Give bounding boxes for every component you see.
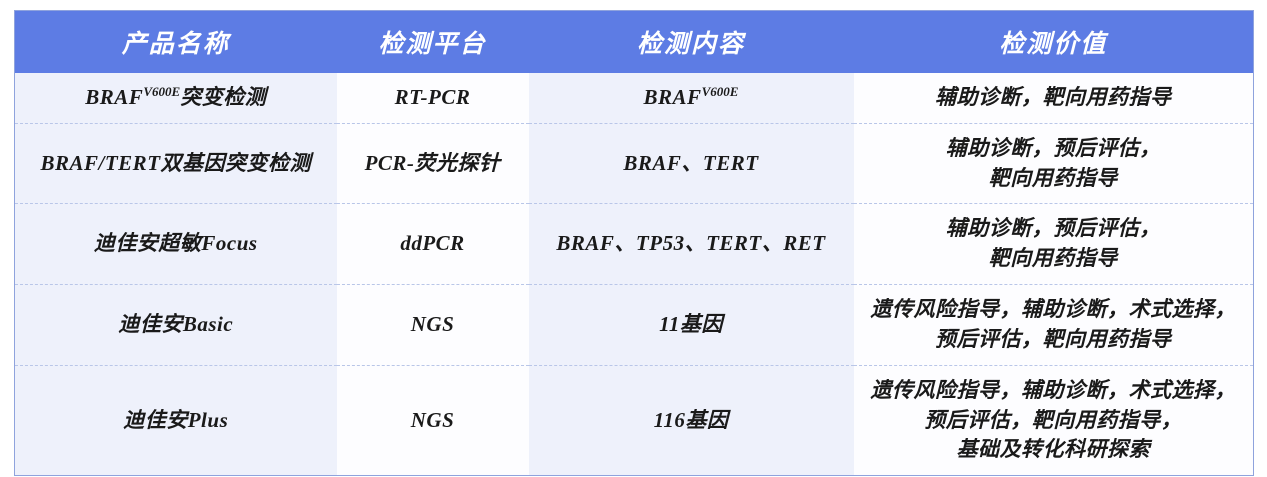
cell-value-line: 遗传风险指导，辅助诊断，术式选择， [860,376,1248,406]
cell-value-line: 预后评估，靶向用药指导 [860,325,1248,355]
cell-product-name: BRAF/TERT双基因突变检测 [15,123,337,204]
cell-product-name: 迪佳安超敏Focus [15,204,337,285]
cell-product-name-superscript: V600E [143,84,180,99]
cell-content-superscript: V600E [702,84,739,99]
cell-content: BRAF、TP53、TERT、RET [529,204,854,285]
cell-value: 辅助诊断，靶向用药指导 [854,73,1254,123]
cell-product-name-text: BRAFV600E突变检测 [85,85,266,109]
table-header: 产品名称 检测平台 检测内容 检测价值 [15,11,1254,74]
cell-product-name-text: BRAF/TERT双基因突变检测 [40,151,311,175]
cell-content-text: BRAF、TP53、TERT、RET [556,231,825,255]
cell-content: 116基因 [529,365,854,475]
cell-content-text: 11基因 [659,312,723,336]
cell-content-text: BRAFV600E [644,85,739,109]
table-row: 迪佳安BasicNGS11基因遗传风险指导，辅助诊断，术式选择，预后评估，靶向用… [15,285,1254,366]
cell-product-name: 迪佳安Plus [15,365,337,475]
cell-value-line: 遗传风险指导，辅助诊断，术式选择， [860,295,1248,325]
cell-content: BRAF、TERT [529,123,854,204]
column-header-platform: 检测平台 [337,11,529,74]
cell-value-line: 预后评估，靶向用药指导， [860,406,1248,436]
cell-platform: RT-PCR [337,73,529,123]
cell-platform: PCR-荧光探针 [337,123,529,204]
cell-platform: NGS [337,365,529,475]
cell-value: 辅助诊断，预后评估，靶向用药指导 [854,123,1254,204]
table-body: BRAFV600E突变检测RT-PCRBRAFV600E辅助诊断，靶向用药指导B… [15,73,1254,476]
cell-value-lines: 辅助诊断，靶向用药指导 [860,83,1248,113]
cell-platform: ddPCR [337,204,529,285]
cell-value-line: 辅助诊断，预后评估， [860,134,1248,164]
cell-content: BRAFV600E [529,73,854,123]
table-header-row: 产品名称 检测平台 检测内容 检测价值 [15,11,1254,74]
cell-product-name: BRAFV600E突变检测 [15,73,337,123]
cell-value-lines: 遗传风险指导，辅助诊断，术式选择，预后评估，靶向用药指导，基础及转化科研探索 [860,376,1248,465]
cell-value-line: 辅助诊断，预后评估， [860,214,1248,244]
table-row: BRAF/TERT双基因突变检测PCR-荧光探针BRAF、TERT辅助诊断，预后… [15,123,1254,204]
cell-value: 遗传风险指导，辅助诊断，术式选择，预后评估，靶向用药指导 [854,285,1254,366]
cell-platform: NGS [337,285,529,366]
cell-product-name-text: 迪佳安Basic [118,312,233,336]
cell-value-lines: 遗传风险指导，辅助诊断，术式选择，预后评估，靶向用药指导 [860,295,1248,355]
column-header-content: 检测内容 [529,11,854,74]
cell-product-name: 迪佳安Basic [15,285,337,366]
cell-product-name-text: 迪佳安Plus [123,408,228,432]
cell-content: 11基因 [529,285,854,366]
table-row: 迪佳安PlusNGS116基因遗传风险指导，辅助诊断，术式选择，预后评估，靶向用… [15,365,1254,475]
cell-value-lines: 辅助诊断，预后评估，靶向用药指导 [860,134,1248,194]
cell-content-text: BRAF、TERT [623,151,758,175]
table-row: BRAFV600E突变检测RT-PCRBRAFV600E辅助诊断，靶向用药指导 [15,73,1254,123]
cell-content-text: 116基因 [654,408,729,432]
column-header-product-name: 产品名称 [15,11,337,74]
cell-value-lines: 辅助诊断，预后评估，靶向用药指导 [860,214,1248,274]
product-detection-table: 产品名称 检测平台 检测内容 检测价值 BRAFV600E突变检测RT-PCRB… [14,10,1254,476]
cell-value: 辅助诊断，预后评估，靶向用药指导 [854,204,1254,285]
product-table-container: 产品名称 检测平台 检测内容 检测价值 BRAFV600E突变检测RT-PCRB… [14,10,1253,465]
document-page: 产品名称 检测平台 检测内容 检测价值 BRAFV600E突变检测RT-PCRB… [0,0,1267,477]
cell-value-line: 靶向用药指导 [860,164,1248,194]
cell-product-name-text: 迪佳安超敏Focus [94,231,258,255]
cell-value-line: 辅助诊断，靶向用药指导 [860,83,1248,113]
cell-value-line: 靶向用药指导 [860,244,1248,274]
column-header-value: 检测价值 [854,11,1254,74]
cell-value: 遗传风险指导，辅助诊断，术式选择，预后评估，靶向用药指导，基础及转化科研探索 [854,365,1254,475]
table-row: 迪佳安超敏FocusddPCRBRAF、TP53、TERT、RET辅助诊断，预后… [15,204,1254,285]
cell-value-line: 基础及转化科研探索 [860,435,1248,465]
